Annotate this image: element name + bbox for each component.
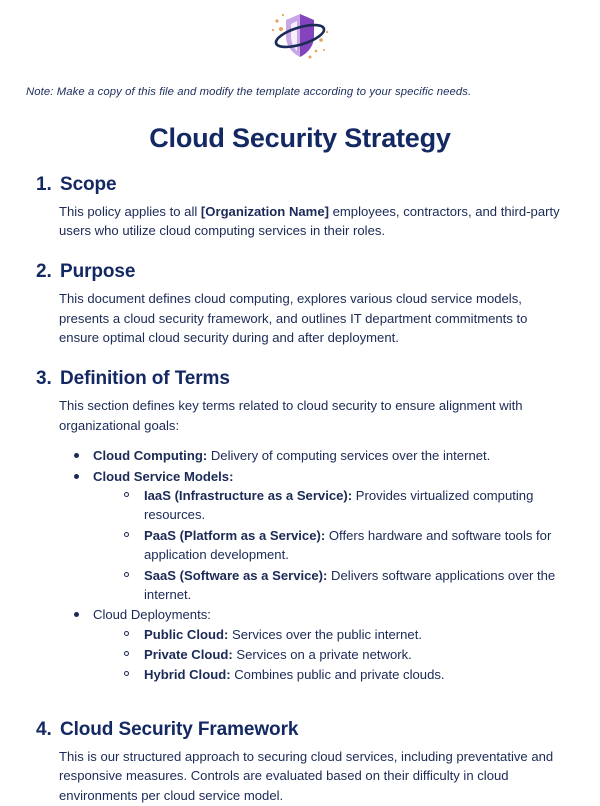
section-title-1: Scope [60, 174, 117, 196]
list-item-description: Delivery of computing services over the … [207, 448, 490, 463]
section-definition-of-terms: 3. Definition of Terms This section defi… [26, 368, 574, 685]
section-number-1: 1. [36, 174, 60, 196]
emphasis-text: [Organization Name] [201, 204, 329, 219]
document-page: Note: Make a copy of this file and modif… [0, 0, 600, 806]
section-paragraph-1: This policy applies to all [Organization… [26, 202, 574, 241]
bullet-circle-icon [124, 492, 129, 497]
sub-list-item-description: Services over the public internet. [228, 627, 422, 642]
bullet-disc-icon [74, 612, 79, 617]
list-item: Cloud Service Models:IaaS (Infrastructur… [73, 467, 574, 605]
sub-list-item: IaaS (Infrastructure as a Service): Prov… [123, 486, 574, 525]
bullet-circle-icon [124, 532, 129, 537]
sub-list-item: Private Cloud: Services on a private net… [123, 645, 574, 664]
body-text: This is our structured approach to secur… [59, 749, 553, 803]
sub-list-item-term: SaaS (Software as a Service): [144, 568, 327, 583]
section-heading-4: 4. Cloud Security Framework [26, 719, 574, 741]
section-title-4: Cloud Security Framework [60, 719, 298, 741]
sub-list: Public Cloud: Services over the public i… [93, 625, 574, 685]
section-number-3: 3. [36, 368, 60, 390]
section-heading-2: 2. Purpose [26, 261, 574, 283]
bullet-disc-icon [74, 453, 79, 458]
section-purpose: 2. Purpose This document defines cloud c… [26, 261, 574, 348]
body-text: This section defines key terms related t… [59, 398, 523, 433]
section-scope: 1. Scope This policy applies to all [Org… [26, 174, 574, 241]
sub-list-item: SaaS (Software as a Service): Delivers s… [123, 566, 574, 605]
section-heading-3: 3. Definition of Terms [26, 368, 574, 390]
section-paragraph-4: This is our structured approach to secur… [26, 747, 574, 806]
template-note: Note: Make a copy of this file and modif… [26, 85, 574, 101]
section-paragraph-3: This section defines key terms related t… [26, 396, 574, 435]
page-title: Cloud Security Strategy [26, 123, 574, 154]
bullet-circle-icon [124, 572, 129, 577]
sub-list-item-term: Hybrid Cloud: [144, 667, 231, 682]
sub-list-item-term: Public Cloud: [144, 627, 228, 642]
list-item: Cloud Computing: Delivery of computing s… [73, 446, 574, 465]
list-item-term: Cloud Computing: [93, 448, 207, 463]
section-number-4: 4. [36, 719, 60, 741]
sub-list-item: PaaS (Platform as a Service): Offers har… [123, 526, 574, 565]
section-cloud-security-framework: 4. Cloud Security Framework This is our … [26, 719, 574, 806]
bullet-circle-icon [124, 631, 129, 636]
body-text: This document defines cloud computing, e… [59, 291, 527, 345]
bullet-circle-icon [124, 651, 129, 656]
sub-list-item-description: Combines public and private clouds. [231, 667, 445, 682]
list-item: Cloud Deployments:Public Cloud: Services… [73, 605, 574, 685]
list-item-term: Cloud Deployments: [93, 607, 211, 622]
section-paragraph-2: This document defines cloud computing, e… [26, 289, 574, 348]
sub-list-item-term: PaaS (Platform as a Service): [144, 528, 325, 543]
list-item-term: Cloud Service Models: [93, 469, 233, 484]
sub-list-item-description: Services on a private network. [233, 647, 412, 662]
bullet-disc-icon [74, 474, 79, 479]
sub-list-item: Public Cloud: Services over the public i… [123, 625, 574, 644]
shield-orbit-logo [268, 10, 332, 62]
sub-list-item-term: Private Cloud: [144, 647, 233, 662]
section-title-3: Definition of Terms [60, 368, 230, 390]
sub-list: IaaS (Infrastructure as a Service): Prov… [93, 486, 574, 604]
sub-list-item-term: IaaS (Infrastructure as a Service): [144, 488, 352, 503]
sub-list-item: Hybrid Cloud: Combines public and privat… [123, 665, 574, 684]
logo-container [26, 0, 574, 72]
section-title-2: Purpose [60, 261, 135, 283]
section-number-2: 2. [36, 261, 60, 283]
section-heading-1: 1. Scope [26, 174, 574, 196]
terms-list: Cloud Computing: Delivery of computing s… [26, 446, 574, 685]
body-text: This policy applies to all [59, 204, 201, 219]
bullet-circle-icon [124, 671, 129, 676]
